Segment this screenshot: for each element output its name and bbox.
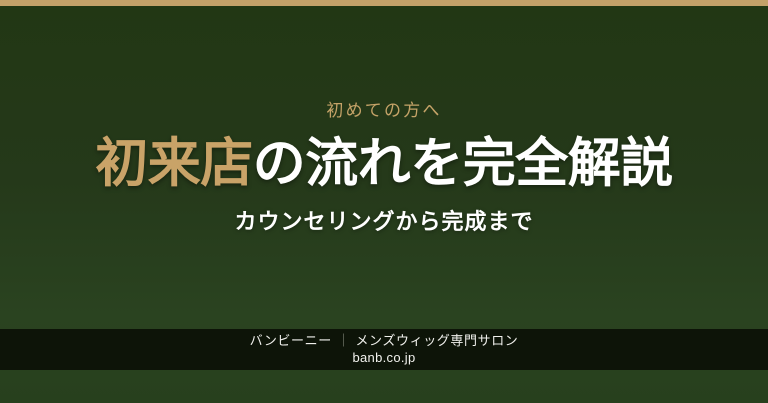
title-rest-segment: の流れを完全解説 (253, 134, 673, 193)
hero-banner: 初めての方へ 初来店の流れを完全解説 カウンセリングから完成まで バンビーニー｜… (0, 0, 768, 403)
page-title: 初来店の流れを完全解説 (95, 136, 673, 192)
brand-tagline: メンズウィッグ専門サロン (355, 333, 518, 348)
subtitle-text: カウンセリングから完成まで (234, 211, 533, 233)
eyebrow-text: 初めての方へ (326, 102, 441, 119)
brand-line: バンビーニー｜メンズウィッグ専門サロン (250, 333, 519, 349)
title-accent-segment: 初来店 (95, 134, 253, 193)
site-url: banb.co.jp (353, 350, 416, 366)
brand-separator: ｜ (332, 333, 356, 348)
brand-name: バンビーニー (250, 333, 332, 348)
footer-band: バンビーニー｜メンズウィッグ専門サロン banb.co.jp (0, 329, 768, 370)
hero-content: 初めての方へ 初来店の流れを完全解説 カウンセリングから完成まで (0, 0, 768, 329)
